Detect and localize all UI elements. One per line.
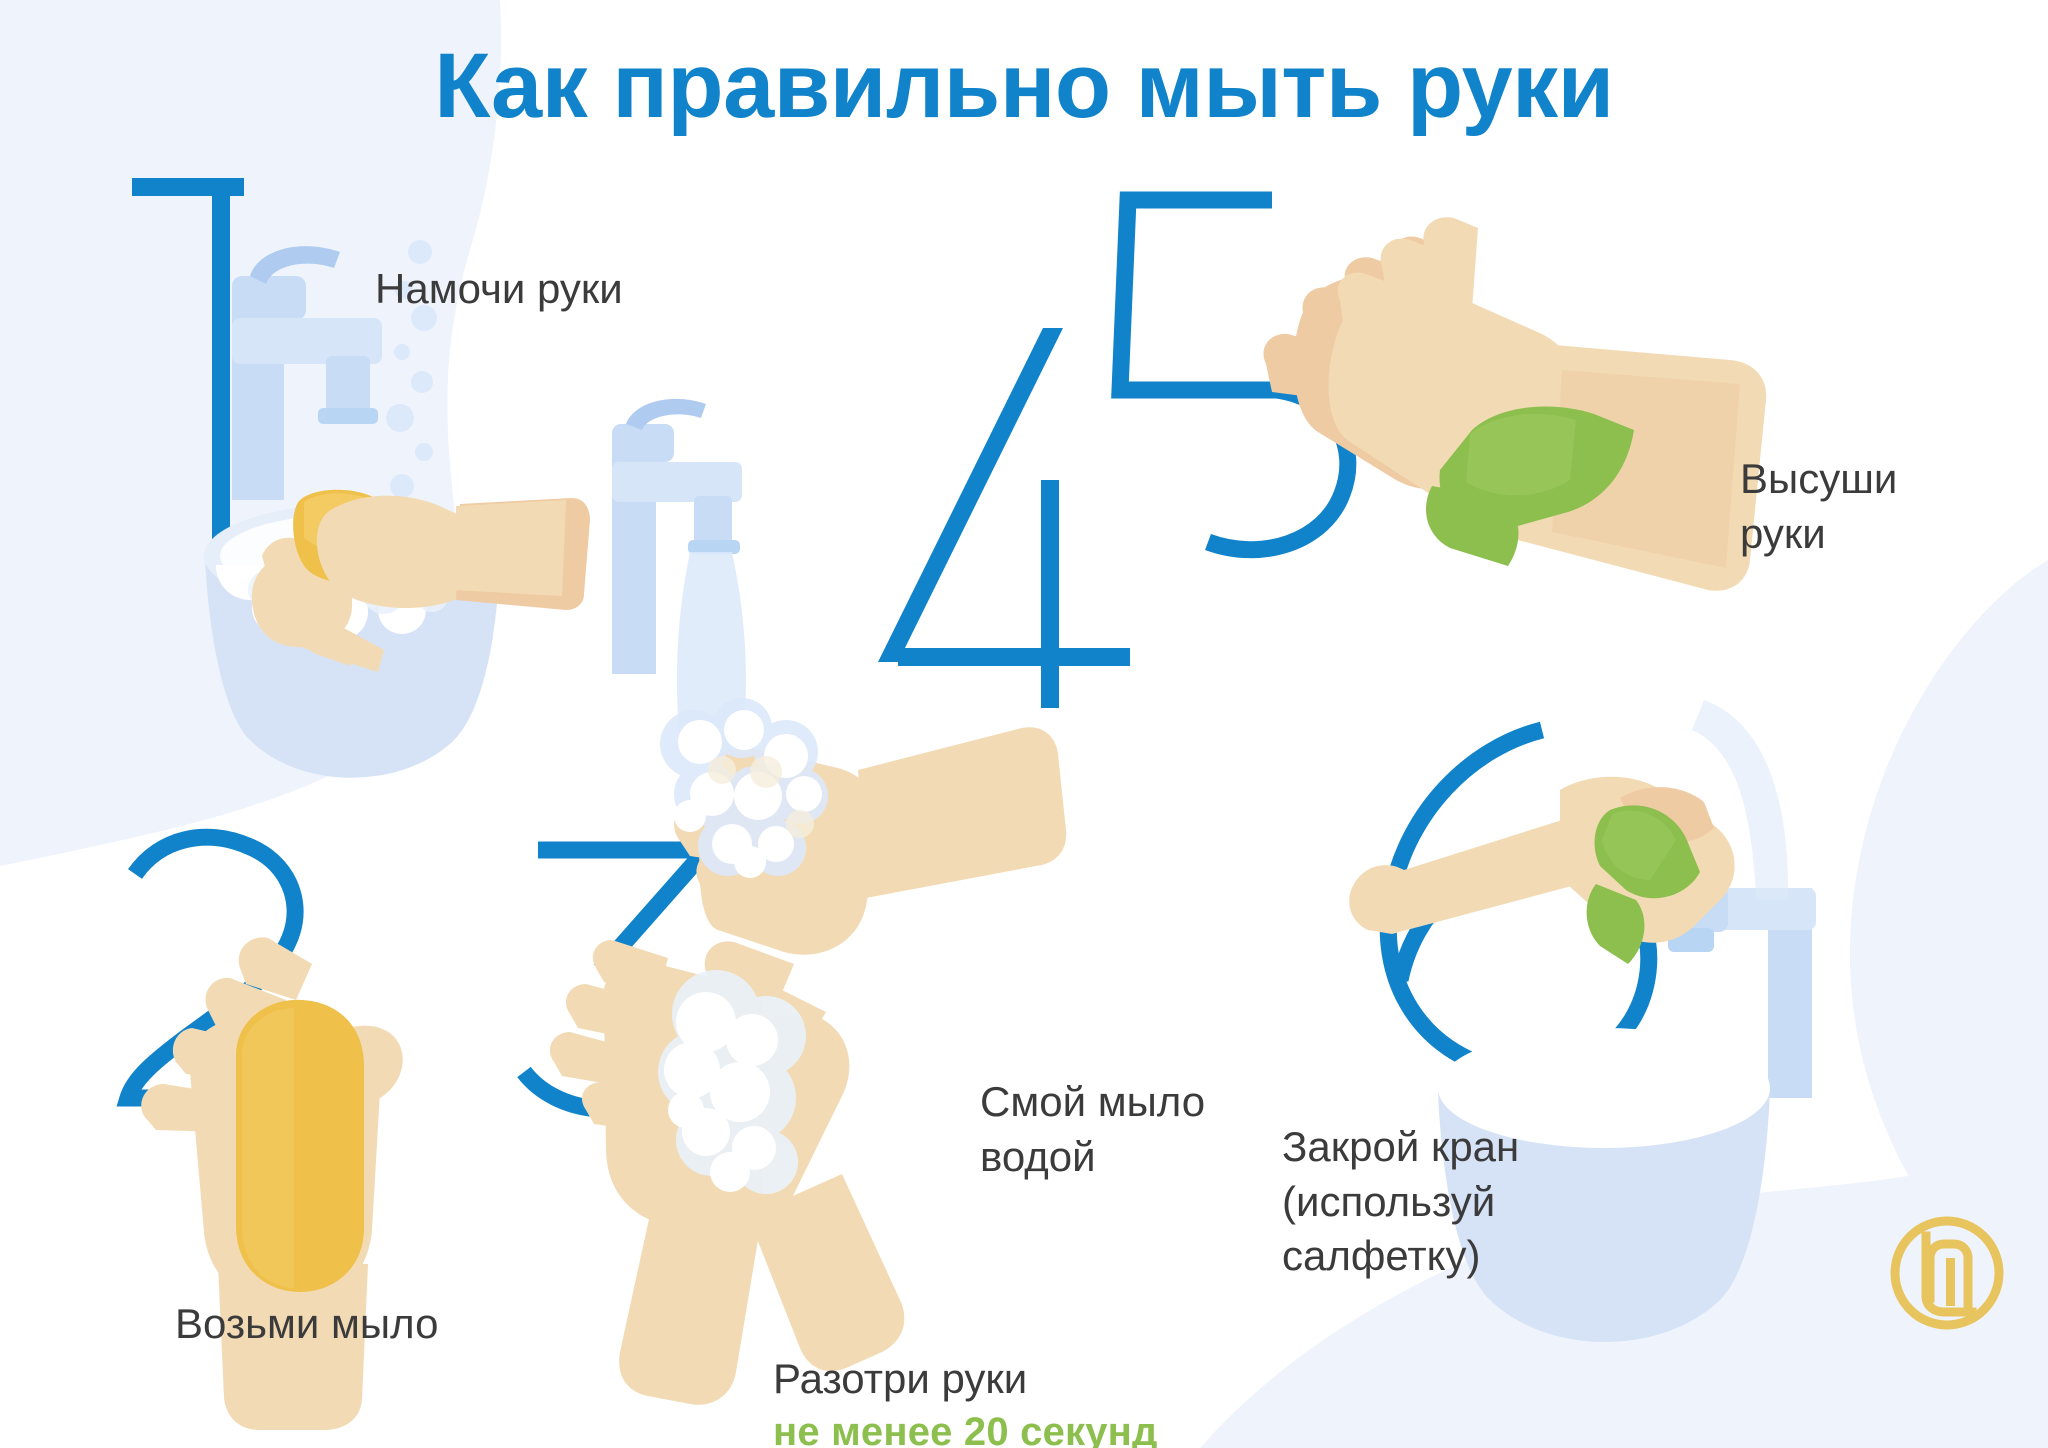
step-3-caption-main: Разотри руки: [773, 1355, 1027, 1402]
infographic-poster: Как правильно мыть руки: [0, 0, 2048, 1448]
step-4-caption: Смой мыло водой: [980, 1075, 1205, 1184]
step-3-subcaption: не менее 20 секунд: [773, 1406, 1158, 1448]
background-decoration: [0, 0, 2048, 1448]
step-3-caption: Разотри руки не менее 20 секунд: [773, 1297, 1158, 1448]
step-2-caption: Возьми мыло: [175, 1297, 438, 1352]
step-1-caption: Намочи руки: [375, 262, 623, 317]
step-6-caption: Закрой кран (используй салфетку): [1282, 1120, 1519, 1284]
page-title: Как правильно мыть руки: [0, 38, 2048, 136]
circular-monogram-logo: [1886, 1212, 2008, 1334]
step-5-caption: Высуши руки: [1740, 452, 1897, 561]
